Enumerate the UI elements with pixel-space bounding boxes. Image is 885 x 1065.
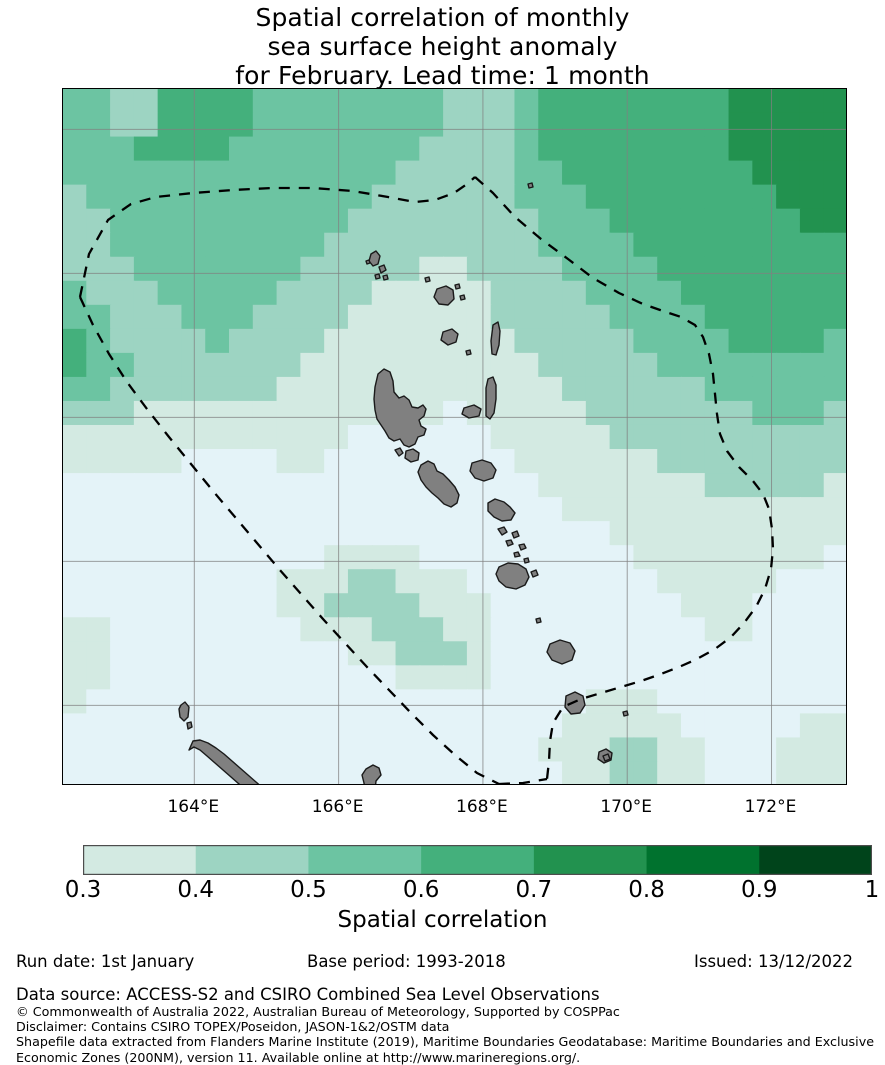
heatmap-cell <box>586 545 611 570</box>
issued-date: Issued: 13/12/2022 <box>694 952 853 971</box>
metadata-row: Run date: 1st January Base period: 1993-… <box>0 952 885 986</box>
heatmap-cell <box>752 713 777 738</box>
heatmap-cell <box>562 761 587 785</box>
heatmap-cell <box>324 689 349 714</box>
heatmap-cell <box>63 137 87 162</box>
heatmap-cell <box>158 329 183 354</box>
heatmap-cell <box>681 377 706 402</box>
heatmap-cell <box>86 665 111 690</box>
heatmap-cell <box>657 425 682 450</box>
heatmap-cell <box>372 641 397 666</box>
heatmap-cell <box>776 353 801 378</box>
heatmap-cell <box>110 137 135 162</box>
heatmap-cell <box>776 377 801 402</box>
heatmap-cell <box>752 89 777 114</box>
heatmap-cell <box>86 257 111 282</box>
heatmap-cell <box>729 233 754 258</box>
heatmap-cell <box>443 545 468 570</box>
heatmap-cell <box>277 89 302 114</box>
heatmap-cell <box>443 761 468 785</box>
heatmap-cell <box>681 281 706 306</box>
heatmap-cell <box>514 353 539 378</box>
heatmap-cell <box>253 281 278 306</box>
heatmap-cell <box>253 545 278 570</box>
heatmap-cell <box>110 689 135 714</box>
heatmap-cell <box>776 425 801 450</box>
colorbar-segment <box>759 845 872 875</box>
heatmap-cell <box>776 305 801 330</box>
heatmap-cell <box>86 689 111 714</box>
heatmap-cell <box>538 353 563 378</box>
heatmap-cell <box>110 113 135 138</box>
heatmap-cell <box>324 377 349 402</box>
heatmap-cell <box>277 281 302 306</box>
base-period: Base period: 1993-2018 <box>307 952 506 971</box>
heatmap-cell <box>134 137 159 162</box>
heatmap-cell <box>86 449 111 474</box>
heatmap-cell <box>63 665 87 690</box>
heatmap-cell <box>110 161 135 186</box>
heatmap-cell <box>253 401 278 426</box>
heatmap-cell <box>562 185 587 210</box>
heatmap-cell <box>538 401 563 426</box>
heatmap-cell <box>158 521 183 546</box>
heatmap-cell <box>229 713 254 738</box>
heatmap-cell <box>538 473 563 498</box>
heatmap-cell <box>824 233 847 258</box>
heatmap-cell <box>253 257 278 282</box>
heatmap-cell <box>300 113 325 138</box>
heatmap-cell <box>277 329 302 354</box>
heatmap-cell <box>705 689 730 714</box>
heatmap-cell <box>229 737 254 762</box>
heatmap-cell <box>229 113 254 138</box>
colorbar-segments <box>83 845 872 875</box>
heatmap-cell <box>205 353 230 378</box>
heatmap-cell <box>562 377 587 402</box>
heatmap-cell <box>348 521 373 546</box>
heatmap-cell <box>491 233 516 258</box>
heatmap-cell <box>110 233 135 258</box>
heatmap-cell <box>752 185 777 210</box>
heatmap-cell <box>300 449 325 474</box>
heatmap-cell <box>253 113 278 138</box>
heatmap-cell <box>586 233 611 258</box>
heatmap-cell <box>372 665 397 690</box>
heatmap-cell <box>681 209 706 234</box>
heatmap-cell <box>681 401 706 426</box>
heatmap-cell <box>514 329 539 354</box>
heatmap-cell <box>657 689 682 714</box>
heatmap-cell <box>610 521 635 546</box>
heatmap-cell <box>467 281 492 306</box>
x-tick-label-1: 166°E <box>278 797 398 817</box>
heatmap-cell <box>729 713 754 738</box>
heatmap-cell <box>657 593 682 618</box>
heatmap-cell <box>824 737 847 762</box>
heatmap-cell <box>538 593 563 618</box>
heatmap-cell <box>205 713 230 738</box>
heatmap-cell <box>514 593 539 618</box>
heatmap-cell <box>467 257 492 282</box>
heatmap-cell <box>586 401 611 426</box>
heatmap-cell <box>752 353 777 378</box>
heatmap-cell <box>110 641 135 666</box>
heatmap-cell <box>514 665 539 690</box>
heatmap-cell <box>633 257 658 282</box>
heatmap-cell <box>586 713 611 738</box>
heatmap-cell <box>372 617 397 642</box>
heatmap-cell <box>396 185 421 210</box>
heatmap-cell <box>705 89 730 114</box>
x-tick-label-2: 168°E <box>422 797 542 817</box>
heatmap-cell <box>538 281 563 306</box>
heatmap-cell <box>729 689 754 714</box>
heatmap-cell <box>491 185 516 210</box>
heatmap-cell <box>419 617 444 642</box>
heatmap-cell <box>348 593 373 618</box>
heatmap-cell <box>824 209 847 234</box>
heatmap-cell <box>229 617 254 642</box>
heatmap-cell <box>491 161 516 186</box>
heatmap-cell <box>657 185 682 210</box>
heatmap-cell <box>491 641 516 666</box>
heatmap-cell <box>348 449 373 474</box>
heatmap-cell <box>86 137 111 162</box>
heatmap-cell <box>348 641 373 666</box>
heatmap-cell <box>657 569 682 594</box>
heatmap-cell <box>324 353 349 378</box>
heatmap-cell <box>63 689 87 714</box>
heatmap-cell <box>467 545 492 570</box>
heatmap-cell <box>657 353 682 378</box>
colorbar-panel: Spatial correlation 0.30.40.50.60.70.80.… <box>0 841 885 901</box>
heatmap-cell <box>253 617 278 642</box>
heatmap-cell <box>586 641 611 666</box>
heatmap-cell <box>752 425 777 450</box>
heatmap-cell <box>824 161 847 186</box>
heatmap-cell <box>134 713 159 738</box>
heatmap-cell <box>824 689 847 714</box>
heatmap-cell <box>86 353 111 378</box>
heatmap-cell <box>514 305 539 330</box>
heatmap-cell <box>586 257 611 282</box>
heatmap-cell <box>610 305 635 330</box>
heatmap-cell <box>514 689 539 714</box>
heatmap-cell <box>110 329 135 354</box>
heatmap-cell <box>800 377 825 402</box>
heatmap-cell <box>300 377 325 402</box>
heatmap-cell <box>396 329 421 354</box>
heatmap-cell <box>800 665 825 690</box>
heatmap-cell <box>372 569 397 594</box>
heatmap-cell <box>205 449 230 474</box>
heatmap-cell <box>705 713 730 738</box>
heatmap-cell <box>443 257 468 282</box>
heatmap-cell <box>348 329 373 354</box>
heatmap-cell <box>134 617 159 642</box>
heatmap-cell <box>419 137 444 162</box>
heatmap-cell <box>277 233 302 258</box>
heatmap-cell <box>657 257 682 282</box>
heatmap-cell <box>158 593 183 618</box>
heatmap-cell <box>63 281 87 306</box>
heatmap-cell <box>633 689 658 714</box>
heatmap-cell <box>253 737 278 762</box>
heatmap-cell <box>752 401 777 426</box>
heatmap-cell <box>514 401 539 426</box>
heatmap-cell <box>134 569 159 594</box>
disclaimer-line-0: © Commonwealth of Australia 2022, Austra… <box>16 1004 876 1019</box>
heatmap-cell <box>443 89 468 114</box>
heatmap-cell <box>633 113 658 138</box>
heatmap-cell <box>300 737 325 762</box>
heatmap-cell <box>110 737 135 762</box>
heatmap-cell <box>633 545 658 570</box>
heatmap-cell <box>538 521 563 546</box>
heatmap-cell <box>348 137 373 162</box>
heatmap-cell <box>277 401 302 426</box>
heatmap-cell <box>633 401 658 426</box>
heatmap-cell <box>586 689 611 714</box>
heatmap-cell <box>586 305 611 330</box>
heatmap-cell <box>800 137 825 162</box>
heatmap-cell <box>610 545 635 570</box>
heatmap-cell <box>514 161 539 186</box>
heatmap-cell <box>467 689 492 714</box>
heatmap-cell <box>396 545 421 570</box>
heatmap-cell <box>562 665 587 690</box>
heatmap-cell <box>538 305 563 330</box>
heatmap-cell <box>277 161 302 186</box>
heatmap-cell <box>396 305 421 330</box>
heatmap-cell <box>610 329 635 354</box>
heatmap-cell <box>538 425 563 450</box>
heatmap-cell <box>110 425 135 450</box>
heatmap-cell <box>681 761 706 785</box>
heatmap-cell <box>419 593 444 618</box>
heatmap-cell <box>800 449 825 474</box>
heatmap-cell <box>633 353 658 378</box>
heatmap-cell <box>705 209 730 234</box>
heatmap-cell <box>800 209 825 234</box>
disclaimer-line-2: Shapefile data extracted from Flanders M… <box>16 1034 876 1049</box>
heatmap-cell <box>229 89 254 114</box>
heatmap-cell <box>86 713 111 738</box>
heatmap-cell <box>205 161 230 186</box>
heatmap-cell <box>681 257 706 282</box>
data-source: Data source: ACCESS-S2 and CSIRO Combine… <box>16 985 600 1004</box>
heatmap-cell <box>681 737 706 762</box>
heatmap-cell <box>467 665 492 690</box>
heatmap-cell <box>86 329 111 354</box>
heatmap-cell <box>300 209 325 234</box>
heatmap-cell <box>824 113 847 138</box>
heatmap-cell <box>324 449 349 474</box>
heatmap-cell <box>800 617 825 642</box>
heatmap-cell <box>610 761 635 785</box>
heatmap-cell <box>729 737 754 762</box>
heatmap-cell <box>657 713 682 738</box>
heatmap-cell <box>110 545 135 570</box>
heatmap-cell <box>729 257 754 282</box>
heatmap-cell <box>443 617 468 642</box>
heatmap-cell <box>800 185 825 210</box>
heatmap-cell <box>443 185 468 210</box>
heatmap-cell <box>800 257 825 282</box>
heatmap-cell <box>396 137 421 162</box>
heatmap-cell <box>324 545 349 570</box>
heatmap-cell <box>300 353 325 378</box>
heatmap-cell <box>158 257 183 282</box>
heatmap-cell <box>610 89 635 114</box>
heatmap-cell <box>300 641 325 666</box>
heatmap-cell <box>348 401 373 426</box>
heatmap-cell <box>752 113 777 138</box>
heatmap-cell <box>372 737 397 762</box>
heatmap-cell <box>800 401 825 426</box>
heatmap-cell <box>633 137 658 162</box>
heatmap-cell <box>277 425 302 450</box>
heatmap-cell <box>348 233 373 258</box>
heatmap-cell <box>538 89 563 114</box>
heatmap-cell <box>324 113 349 138</box>
heatmap-cell <box>86 521 111 546</box>
heatmap-cell <box>562 497 587 522</box>
heatmap-cell <box>467 617 492 642</box>
heatmap-cell <box>86 425 111 450</box>
heatmap-cell <box>752 329 777 354</box>
heatmap-cell <box>277 209 302 234</box>
heatmap-cell <box>324 305 349 330</box>
heatmap-cell <box>300 665 325 690</box>
heatmap-cell <box>514 113 539 138</box>
heatmap-cell <box>562 233 587 258</box>
heatmap-cell <box>396 233 421 258</box>
heatmap-cell <box>657 113 682 138</box>
heatmap-cell <box>277 113 302 138</box>
heatmap-cell <box>562 617 587 642</box>
heatmap-cell <box>158 401 183 426</box>
heatmap-cell <box>824 713 847 738</box>
heatmap-cell <box>419 569 444 594</box>
heatmap-cell <box>324 617 349 642</box>
heatmap-cell <box>205 113 230 138</box>
heatmap-cell <box>586 425 611 450</box>
heatmap-cell <box>134 209 159 234</box>
heatmap-cell <box>63 377 87 402</box>
heatmap-cell <box>229 233 254 258</box>
heatmap-cell <box>681 89 706 114</box>
heatmap-cell <box>705 425 730 450</box>
heatmap-cell <box>443 449 468 474</box>
heatmap-cell <box>134 257 159 282</box>
heatmap-cell <box>800 281 825 306</box>
heatmap-cell <box>253 473 278 498</box>
heatmap-cell <box>229 449 254 474</box>
heatmap-cell <box>752 161 777 186</box>
heatmap-cell <box>348 161 373 186</box>
heatmap-cell <box>776 497 801 522</box>
heatmap-cell <box>681 569 706 594</box>
heatmap-cell <box>800 641 825 666</box>
heatmap-cell <box>467 353 492 378</box>
heatmap-cell <box>419 329 444 354</box>
heatmap-cell <box>824 137 847 162</box>
heatmap-cell <box>110 209 135 234</box>
heatmap-cell <box>110 89 135 114</box>
heatmap-cell <box>300 521 325 546</box>
heatmap-cell <box>752 545 777 570</box>
heatmap-cell <box>752 593 777 618</box>
heatmap-cell <box>681 233 706 258</box>
heatmap-cell <box>562 161 587 186</box>
heatmap-cell <box>586 449 611 474</box>
heatmap-cell <box>752 281 777 306</box>
heatmap-cell <box>419 689 444 714</box>
heatmap-cell <box>633 713 658 738</box>
heatmap-cell <box>800 113 825 138</box>
heatmap-cell <box>205 329 230 354</box>
heatmap-cell <box>443 113 468 138</box>
heatmap-cell <box>467 641 492 666</box>
heatmap-cell <box>205 593 230 618</box>
heatmap-cell <box>824 497 847 522</box>
heatmap-cell <box>158 305 183 330</box>
heatmap-cell <box>396 209 421 234</box>
heatmap-cell <box>681 305 706 330</box>
heatmap-cell <box>253 305 278 330</box>
heatmap-cell <box>229 257 254 282</box>
heatmap-cell <box>633 521 658 546</box>
heatmap-cell <box>134 473 159 498</box>
heatmap-cell <box>63 449 87 474</box>
disclaimer: © Commonwealth of Australia 2022, Austra… <box>16 1004 876 1065</box>
heatmap-cell <box>610 689 635 714</box>
heatmap-cell <box>110 401 135 426</box>
heatmap-cell <box>586 473 611 498</box>
heatmap-cell <box>467 113 492 138</box>
heatmap-cell <box>396 257 421 282</box>
heatmap-cell <box>633 641 658 666</box>
heatmap-cell <box>776 449 801 474</box>
heatmap-cell <box>729 329 754 354</box>
heatmap-cell <box>205 257 230 282</box>
heatmap-cell <box>277 497 302 522</box>
heatmap-cell <box>538 545 563 570</box>
heatmap-cell <box>729 281 754 306</box>
heatmap-cell <box>110 185 135 210</box>
heatmap-cell <box>824 449 847 474</box>
heatmap-cell <box>610 209 635 234</box>
heatmap-cell <box>86 545 111 570</box>
colorbar-tick-7: 1 <box>827 877 885 903</box>
heatmap-cell <box>158 281 183 306</box>
heatmap-cell <box>562 209 587 234</box>
heatmap-cell <box>538 113 563 138</box>
colorbar-segment <box>308 845 421 875</box>
heatmap-cell <box>158 473 183 498</box>
heatmap-cell <box>372 473 397 498</box>
heatmap-cell <box>372 113 397 138</box>
heatmap-cell <box>633 377 658 402</box>
heatmap-cell <box>586 521 611 546</box>
map-panel: 12°S14°S16°S18°S20°S 164°E166°E168°E170°… <box>62 88 847 785</box>
heatmap-cell <box>752 305 777 330</box>
heatmap-cell <box>443 161 468 186</box>
heatmap-cell <box>538 257 563 282</box>
heatmap-cell <box>348 473 373 498</box>
